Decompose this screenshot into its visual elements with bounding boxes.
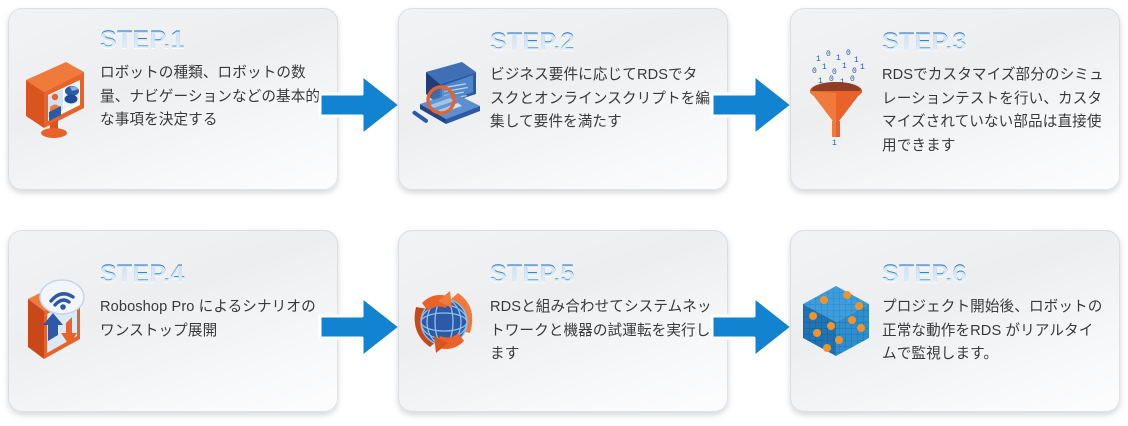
svg-text:1: 1 — [854, 56, 859, 65]
svg-text:1: 1 — [860, 63, 865, 72]
step-card-6: STEP.6 プロジェクト開始後、ロボットの正常な動作をRDS がリアルタイムで… — [790, 230, 1120, 412]
svg-text:1: 1 — [842, 62, 847, 71]
step-body: RDSでカスタマイズ部分のシミュレーションテストを行い、カスタマイズされていない… — [882, 64, 1104, 159]
arrow-right-icon — [710, 292, 794, 362]
svg-text:0: 0 — [826, 50, 831, 59]
monitor-dashboard-icon — [8, 8, 100, 190]
svg-text:0: 0 — [850, 75, 855, 84]
step-card-5: STEP.5 RDSと組み合わせてシステムネットワークと機器の試運転を実行します — [398, 230, 728, 412]
cube-nodes-icon — [790, 230, 882, 412]
step-title: STEP.5 — [490, 262, 575, 287]
step-card-1: STEP.1 ロボットの種類、ロボットの数量、ナビゲーションなどの基本的な事項を… — [8, 8, 338, 190]
svg-text:0: 0 — [812, 67, 817, 76]
step-body: ビジネス要件に応じてRDSでタスクとオンラインスクリプトを編集して要件を満たす — [490, 64, 712, 135]
step-title: STEP.3 — [882, 30, 967, 55]
step-card-2: STEP.2 ビジネス要件に応じてRDSでタスクとオンラインスクリプトを編集して… — [398, 8, 728, 190]
svg-text:0: 0 — [846, 49, 851, 58]
arrow-right-icon — [710, 70, 794, 140]
svg-text:1: 1 — [836, 54, 841, 63]
arrow-right-icon — [318, 292, 402, 362]
step-title: STEP.4 — [100, 262, 185, 287]
laptop-magnifier-icon — [398, 8, 490, 190]
arrow-right-icon — [318, 70, 402, 140]
step-body: ロボットの種類、ロボットの数量、ナビゲーションなどの基本的な事項を決定する — [100, 62, 322, 133]
funnel-data-icon: 10 10 1 01 01 01 10 10 — [790, 8, 882, 190]
step-title: STEP.6 — [882, 262, 967, 287]
svg-text:1: 1 — [832, 139, 837, 148]
step-title: STEP.2 — [490, 30, 575, 55]
step-body: Roboshop Pro によるシナリオのワンストップ展開 — [100, 296, 322, 343]
step-title: STEP.1 — [100, 28, 185, 53]
svg-text:1: 1 — [816, 55, 821, 64]
step-card-3: 10 10 1 01 01 01 10 10 — [790, 8, 1120, 190]
process-flow-diagram: STEP.1 ロボットの種類、ロボットの数量、ナビゲーションなどの基本的な事項を… — [0, 0, 1128, 426]
step-body: RDSと組み合わせてシステムネットワークと機器の試運転を実行します — [490, 296, 712, 367]
svg-text:1: 1 — [822, 63, 827, 72]
step-body: プロジェクト開始後、ロボットの正常な動作をRDS がリアルタイムで監視します。 — [882, 296, 1104, 367]
wifi-deploy-icon — [8, 230, 100, 412]
globe-sync-icon — [398, 230, 490, 412]
step-card-4: STEP.4 Roboshop Pro によるシナリオのワンストップ展開 — [8, 230, 338, 412]
